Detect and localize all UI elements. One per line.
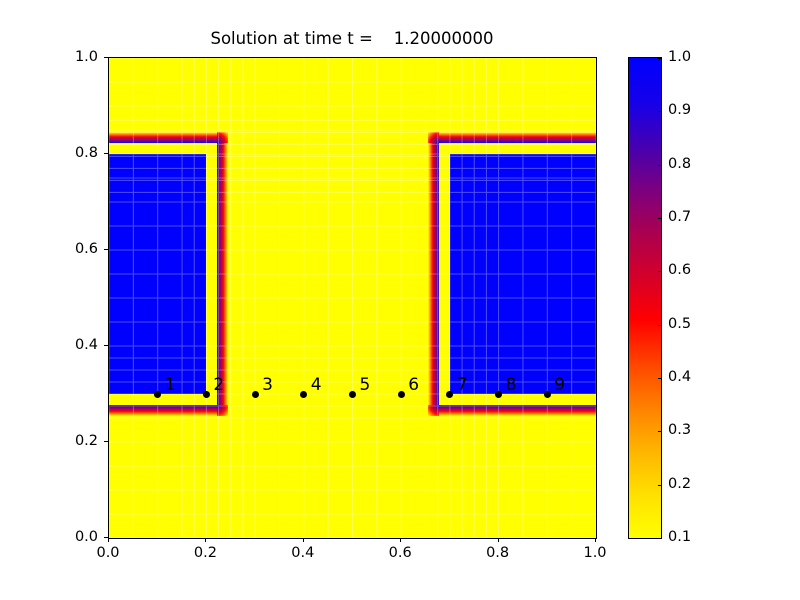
x-tick-mark (498, 538, 499, 542)
page-title: Solution at time t = 1.20000000 (108, 29, 596, 49)
x-tick-label: 1.0 (583, 545, 606, 561)
y-tick-mark (104, 249, 108, 250)
colorbar-tick-mark (658, 111, 662, 112)
marker-point[interactable] (252, 391, 259, 398)
y-tick-mark (104, 153, 108, 154)
colorbar-tick-mark (658, 218, 662, 219)
x-tick-label: 0.8 (486, 545, 509, 561)
y-tick-mark (104, 537, 108, 538)
field-region (450, 154, 596, 394)
marker-point[interactable] (349, 391, 356, 398)
y-tick-label: 0.0 (30, 529, 98, 545)
field-region-gradient (108, 143, 217, 405)
marker-point-label: 4 (311, 377, 322, 394)
matplotlib-figure: Solution at time t = 1.20000000 12345678… (0, 0, 800, 600)
colorbar-tick-label: 0.8 (668, 156, 691, 172)
colorbar-tick-label: 1.0 (668, 49, 691, 65)
marker-point-label: 5 (360, 377, 371, 394)
x-tick-mark (303, 538, 304, 542)
x-tick-label: 0.0 (96, 545, 119, 561)
colorbar-tick-mark (658, 485, 662, 486)
colorbar-tick-mark (658, 378, 662, 379)
marker-point-label: 2 (213, 377, 224, 394)
marker-point-label: 3 (262, 377, 273, 394)
x-tick-label: 0.4 (291, 545, 314, 561)
marker-point[interactable] (300, 391, 307, 398)
colorbar-tick-label: 0.9 (668, 102, 691, 118)
colorbar-gradient (629, 58, 661, 538)
colorbar-tick-label: 0.6 (668, 262, 691, 278)
x-tick-mark (400, 538, 401, 542)
y-tick-label: 1.0 (30, 49, 98, 65)
colorbar-tick-label: 0.3 (668, 422, 691, 438)
y-tick-mark (104, 57, 108, 58)
colorbar-tick-label: 0.7 (668, 209, 691, 225)
colorbar-tick-mark (658, 431, 662, 432)
x-tick-label: 0.2 (194, 545, 217, 561)
marker-point[interactable] (446, 391, 453, 398)
field-region (109, 154, 206, 394)
marker-point[interactable] (203, 391, 210, 398)
x-tick-mark (108, 538, 109, 542)
x-tick-mark (595, 538, 596, 542)
marker-point[interactable] (398, 391, 405, 398)
marker-point-label: 6 (408, 377, 419, 394)
marker-point-label: 7 (457, 377, 468, 394)
plot-axes: 123456789 (108, 57, 597, 539)
marker-point[interactable] (495, 391, 502, 398)
colorbar-tick-label: 0.1 (668, 529, 691, 545)
colorbar-tick-mark (658, 165, 662, 166)
colorbar (628, 57, 662, 539)
colorbar-tick-label: 0.5 (668, 316, 691, 332)
x-tick-mark (205, 538, 206, 542)
colorbar-tick-mark (658, 538, 662, 539)
colorbar-tick-mark (658, 271, 662, 272)
y-tick-label: 0.8 (30, 145, 98, 161)
y-tick-mark (104, 345, 108, 346)
y-tick-mark (104, 441, 108, 442)
marker-point-label: 1 (165, 377, 176, 394)
colorbar-tick-label: 0.2 (668, 476, 691, 492)
field-region-gradient (439, 143, 597, 405)
colorbar-tick-mark (658, 58, 662, 59)
colorbar-tick-mark (658, 325, 662, 326)
marker-point[interactable] (544, 391, 551, 398)
marker-point-label: 9 (554, 377, 565, 394)
colorbar-tick-label: 0.4 (668, 369, 691, 385)
marker-point-label: 8 (506, 377, 517, 394)
y-tick-label: 0.6 (30, 241, 98, 257)
x-tick-label: 0.6 (389, 545, 412, 561)
y-tick-label: 0.4 (30, 337, 98, 353)
scalar-field-image (109, 58, 596, 538)
y-tick-label: 0.2 (30, 433, 98, 449)
marker-point[interactable] (154, 391, 161, 398)
